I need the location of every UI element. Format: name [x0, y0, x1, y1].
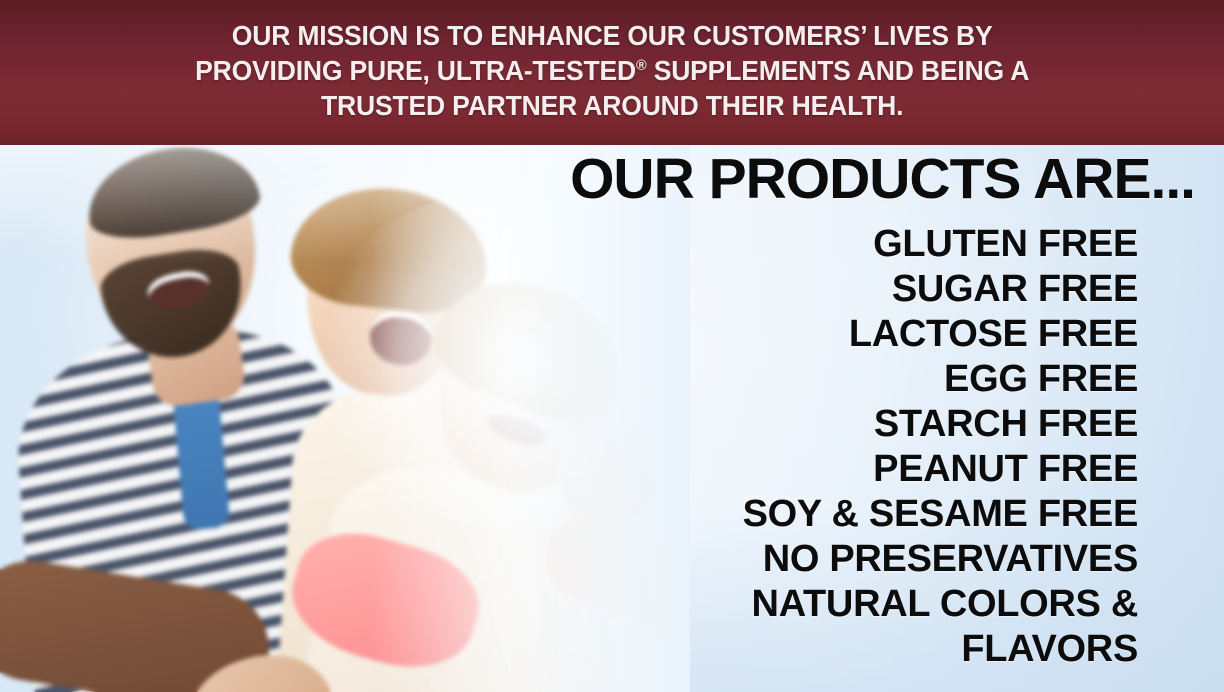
product-claims-panel: OUR PRODUCTS ARE... GLUTEN FREE SUGAR FR…: [430, 145, 1224, 692]
products-heading: OUR PRODUCTS ARE...: [430, 151, 1195, 208]
promotional-banner-page: OUR MISSION IS TO ENHANCE OUR CUSTOMERS’…: [0, 0, 1224, 692]
mission-line-2-pre: PROVIDING PURE, ULTRA-TESTED: [195, 55, 636, 86]
list-item: NO PRESERVATIVES: [430, 537, 1138, 582]
mission-line-2-post: SUPPLEMENTS AND BEING A: [646, 55, 1029, 86]
list-item: SOY & SESAME FREE: [430, 492, 1138, 537]
list-item: PEANUT FREE: [430, 447, 1138, 492]
product-claims-list: GLUTEN FREE SUGAR FREE LACTOSE FREE EGG …: [430, 222, 1138, 672]
list-item: FLAVORS: [430, 627, 1138, 672]
mission-line-3: TRUSTED PARTNER AROUND THEIR HEALTH.: [321, 90, 903, 121]
list-item: SUGAR FREE: [430, 267, 1138, 312]
list-item: STARCH FREE: [430, 402, 1138, 447]
content-stage: OUR PRODUCTS ARE... GLUTEN FREE SUGAR FR…: [0, 145, 1224, 692]
mission-statement-text: OUR MISSION IS TO ENHANCE OUR CUSTOMERS’…: [195, 18, 1029, 124]
list-item: GLUTEN FREE: [430, 222, 1138, 267]
mission-banner: OUR MISSION IS TO ENHANCE OUR CUSTOMERS’…: [0, 0, 1224, 145]
list-item: LACTOSE FREE: [430, 312, 1138, 357]
list-item: EGG FREE: [430, 357, 1138, 402]
registered-trademark-icon: ®: [636, 57, 647, 74]
list-item: NATURAL COLORS &: [430, 582, 1138, 627]
mission-line-1: OUR MISSION IS TO ENHANCE OUR CUSTOMERS’…: [232, 20, 993, 51]
